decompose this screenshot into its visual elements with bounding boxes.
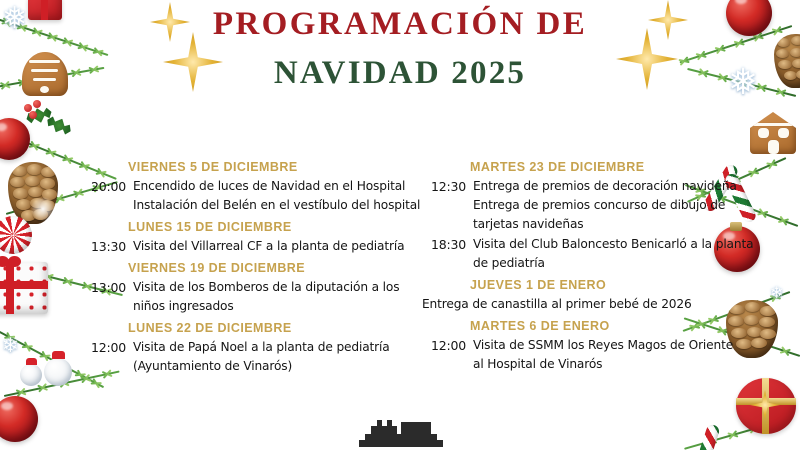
- day-header: VIERNES 19 DE DICIEMBRE: [80, 261, 420, 275]
- event-description-line: Entrega de premios de decoración navideñ…: [473, 177, 737, 196]
- day-header: JUEVES 1 DE ENERO: [420, 278, 760, 292]
- schedule-columns: VIERNES 5 DE DICIEMBRE20:00Encendido de …: [0, 155, 800, 420]
- hospital-building-logo: [355, 420, 447, 448]
- event-description-line: Visita del Villarreal CF a la planta de …: [133, 237, 404, 256]
- poster-title: PROGRAMACIÓN DE NAVIDAD 2025: [0, 0, 800, 92]
- day-header: MARTES 6 DE ENERO: [420, 319, 760, 333]
- christmas-programme-poster: ❅ ❄: [0, 0, 800, 450]
- event-description-line: Encendido de luces de Navidad en el Hosp…: [133, 177, 420, 196]
- event-description-line: Visita del Club Baloncesto Benicarló a l…: [473, 235, 753, 254]
- holly-berry: [24, 104, 32, 112]
- event-description-line: Visita de Papá Noel a la planta de pedia…: [133, 338, 390, 357]
- schedule-column-left: VIERNES 5 DE DICIEMBRE20:00Encendido de …: [80, 155, 420, 377]
- pine-branch: [684, 418, 792, 449]
- holly-berry: [33, 100, 41, 108]
- schedule-event: 13:00Visita de los Bomberos de la diputa…: [80, 278, 420, 316]
- candy-cane-icon: [692, 423, 720, 450]
- title-line-1: PROGRAMACIÓN DE: [0, 6, 800, 43]
- event-time: 12:00: [420, 336, 473, 355]
- event-description: Encendido de luces de Navidad en el Hosp…: [133, 177, 420, 215]
- event-time: 12:00: [80, 338, 133, 357]
- title-line-2: NAVIDAD 2025: [0, 55, 800, 92]
- schedule-event: Entrega de canastilla al primer bebé de …: [420, 295, 760, 314]
- event-description-line: Entrega de premios concurso de dibujo de: [473, 196, 737, 215]
- gingerbread-house-icon: [750, 112, 796, 154]
- red-ornament-ball: [0, 118, 30, 160]
- event-description: Entrega de canastilla al primer bebé de …: [420, 295, 692, 314]
- schedule-event: 12:00Visita de SSMM los Reyes Magos de O…: [420, 336, 760, 374]
- event-description-line: Entrega de canastilla al primer bebé de …: [422, 295, 692, 314]
- event-description: Visita del Villarreal CF a la planta de …: [133, 237, 404, 256]
- schedule-column-right: MARTES 23 DE DICIEMBRE12:30Entrega de pr…: [420, 155, 760, 375]
- schedule-event: 13:30Visita del Villarreal CF a la plant…: [80, 237, 420, 256]
- event-description-line: al Hospital de Vinarós: [473, 355, 733, 374]
- event-description: Visita de Papá Noel a la planta de pedia…: [133, 338, 390, 376]
- event-description-line: de pediatría: [473, 254, 753, 273]
- schedule-event: 20:00Encendido de luces de Navidad en el…: [80, 177, 420, 215]
- event-description: Visita de SSMM los Reyes Magos de Orient…: [473, 336, 733, 374]
- event-description-line: tarjetas navideñas: [473, 215, 737, 234]
- schedule-event: 12:30Entrega de premios de decoración na…: [420, 177, 760, 234]
- event-description: Entrega de premios de decoración navideñ…: [473, 177, 737, 234]
- day-header: VIERNES 5 DE DICIEMBRE: [80, 160, 420, 174]
- event-time: 13:00: [80, 278, 133, 297]
- day-header: LUNES 15 DE DICIEMBRE: [80, 220, 420, 234]
- event-description-line: niños ingresados: [133, 297, 399, 316]
- schedule-event: 18:30Visita del Club Baloncesto Benicarl…: [420, 235, 760, 273]
- day-header: MARTES 23 DE DICIEMBRE: [420, 160, 760, 174]
- event-time: 13:30: [80, 237, 133, 256]
- event-description-line: Instalación del Belén en el vestíbulo de…: [133, 196, 420, 215]
- event-time: 18:30: [420, 235, 473, 254]
- holly-leaf: [24, 105, 53, 127]
- holly-leaf: [44, 113, 74, 138]
- holly-berry: [29, 111, 37, 119]
- event-description-line: (Ayuntamiento de Vinarós): [133, 357, 390, 376]
- day-header: LUNES 22 DE DICIEMBRE: [80, 321, 420, 335]
- event-description-line: Visita de los Bomberos de la diputación …: [133, 278, 399, 297]
- schedule-event: 12:00Visita de Papá Noel a la planta de …: [80, 338, 420, 376]
- event-time: 12:30: [420, 177, 473, 196]
- event-description: Visita de los Bomberos de la diputación …: [133, 278, 399, 316]
- event-description-line: Visita de SSMM los Reyes Magos de Orient…: [473, 336, 733, 355]
- event-time: 20:00: [80, 177, 133, 196]
- event-description: Visita del Club Baloncesto Benicarló a l…: [473, 235, 753, 273]
